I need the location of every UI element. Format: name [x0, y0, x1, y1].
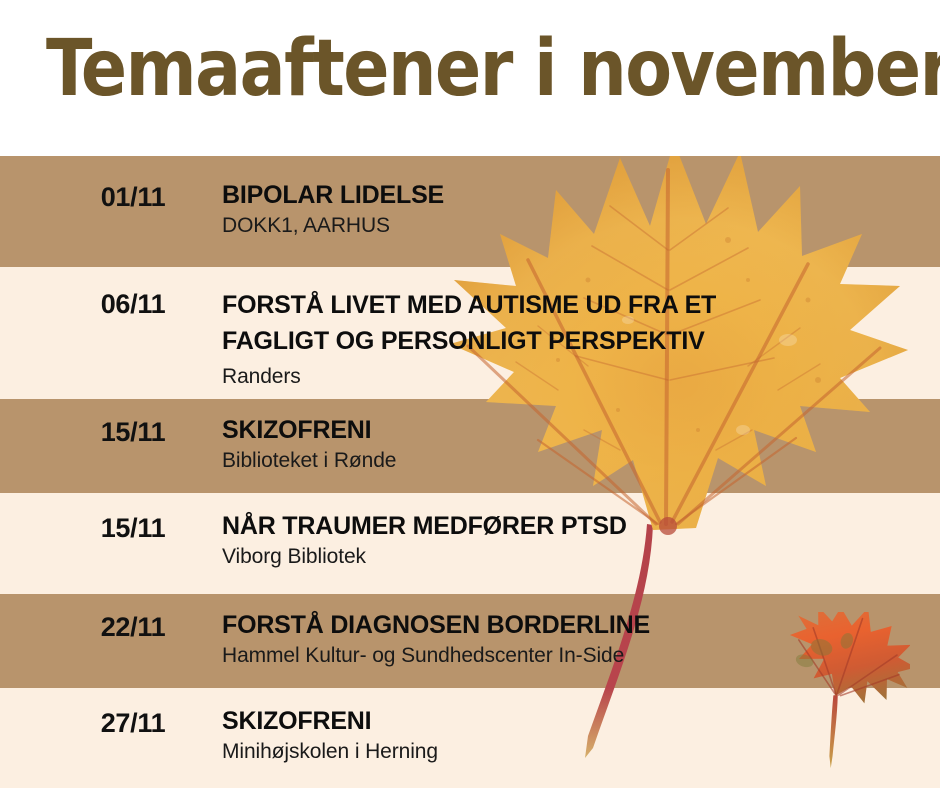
event-title: FORSTÅ DIAGNOSEN BORDERLINE — [222, 610, 930, 640]
event-row[interactable]: 15/11 NÅR TRAUMER MEDFØRER PTSD Viborg B… — [0, 493, 940, 594]
event-body: NÅR TRAUMER MEDFØRER PTSD Viborg Bibliot… — [222, 511, 930, 570]
event-date: 01/11 — [58, 182, 208, 212]
event-venue: Randers — [222, 363, 930, 390]
poster-header: Temaaftener i november — [0, 0, 940, 156]
event-date: 22/11 — [58, 612, 208, 642]
event-title: SKIZOFRENI — [222, 415, 930, 445]
event-date: 06/11 — [58, 289, 208, 319]
page-title: Temaaftener i november — [46, 24, 880, 114]
event-row[interactable]: 22/11 FORSTÅ DIAGNOSEN BORDERLINE Hammel… — [0, 594, 940, 688]
event-date: 15/11 — [58, 513, 208, 543]
event-row[interactable]: 01/11 BIPOLAR LIDELSE DOKK1, AARHUS — [0, 156, 940, 267]
event-venue: DOKK1, AARHUS — [222, 212, 930, 239]
event-row[interactable]: 15/11 SKIZOFRENI Biblioteket i Rønde — [0, 399, 940, 493]
event-venue: Hammel Kultur- og Sundhedscenter In-Side — [222, 642, 930, 669]
event-body: FORSTÅ LIVET MED AUTISME UD FRA ET FAGLI… — [222, 287, 930, 390]
event-body: BIPOLAR LIDELSE DOKK1, AARHUS — [222, 180, 930, 239]
event-title: NÅR TRAUMER MEDFØRER PTSD — [222, 511, 930, 541]
poster-canvas: Temaaftener i november 01/11 BIPOLAR LID… — [0, 0, 940, 788]
event-row[interactable]: 27/11 SKIZOFRENI Minihøjskolen i Herning — [0, 688, 940, 788]
event-title: SKIZOFRENI — [222, 706, 930, 736]
event-venue: Minihøjskolen i Herning — [222, 738, 930, 765]
event-body: SKIZOFRENI Biblioteket i Rønde — [222, 415, 930, 474]
event-venue: Biblioteket i Rønde — [222, 447, 930, 474]
event-date: 27/11 — [58, 708, 208, 738]
event-title: BIPOLAR LIDELSE — [222, 180, 930, 210]
event-venue: Viborg Bibliotek — [222, 543, 930, 570]
event-date: 15/11 — [58, 417, 208, 447]
event-body: SKIZOFRENI Minihøjskolen i Herning — [222, 706, 930, 765]
event-body: FORSTÅ DIAGNOSEN BORDERLINE Hammel Kultu… — [222, 610, 930, 669]
event-title: FORSTÅ LIVET MED AUTISME UD FRA ET FAGLI… — [222, 287, 930, 359]
event-row[interactable]: 06/11 FORSTÅ LIVET MED AUTISME UD FRA ET… — [0, 267, 940, 399]
